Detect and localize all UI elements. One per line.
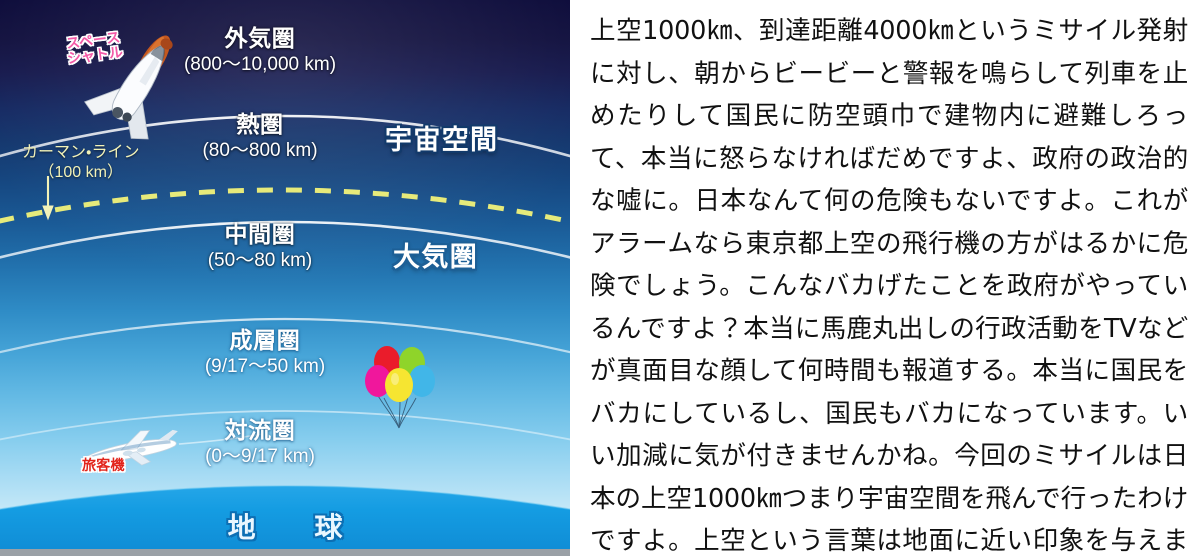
balloon-yellow bbox=[385, 368, 413, 402]
space-shuttle-icon bbox=[81, 17, 200, 146]
atmosphere-diagram: 外気圏 (800～10,000 km) 熱圏 (80～800 km) 中間圏 (… bbox=[0, 0, 570, 556]
arc-mesosphere-base bbox=[0, 319, 570, 362]
commentary-panel: 上空1000㎞、到達距離4000㎞というミサイル発射に対し、朝からビービーと警報… bbox=[570, 0, 1200, 556]
arc-exosphere-base bbox=[0, 116, 570, 168]
karman-line bbox=[0, 190, 570, 232]
layer-boundary-arcs bbox=[0, 116, 570, 448]
page-root: 外気圏 (800～10,000 km) 熱圏 (80～800 km) 中間圏 (… bbox=[0, 0, 1200, 556]
bottom-gray-strip bbox=[0, 549, 570, 556]
diagram-vector-layer bbox=[0, 0, 570, 556]
arc-thermosphere-base bbox=[0, 222, 570, 268]
earth-dome bbox=[0, 486, 570, 556]
balloon-cyan bbox=[409, 365, 435, 397]
commentary-body: 上空1000㎞、到達距離4000㎞というミサイル発射に対し、朝からビービーと警報… bbox=[590, 10, 1188, 556]
karman-arrow-icon bbox=[43, 176, 53, 219]
arc-stratosphere-base bbox=[0, 411, 570, 448]
